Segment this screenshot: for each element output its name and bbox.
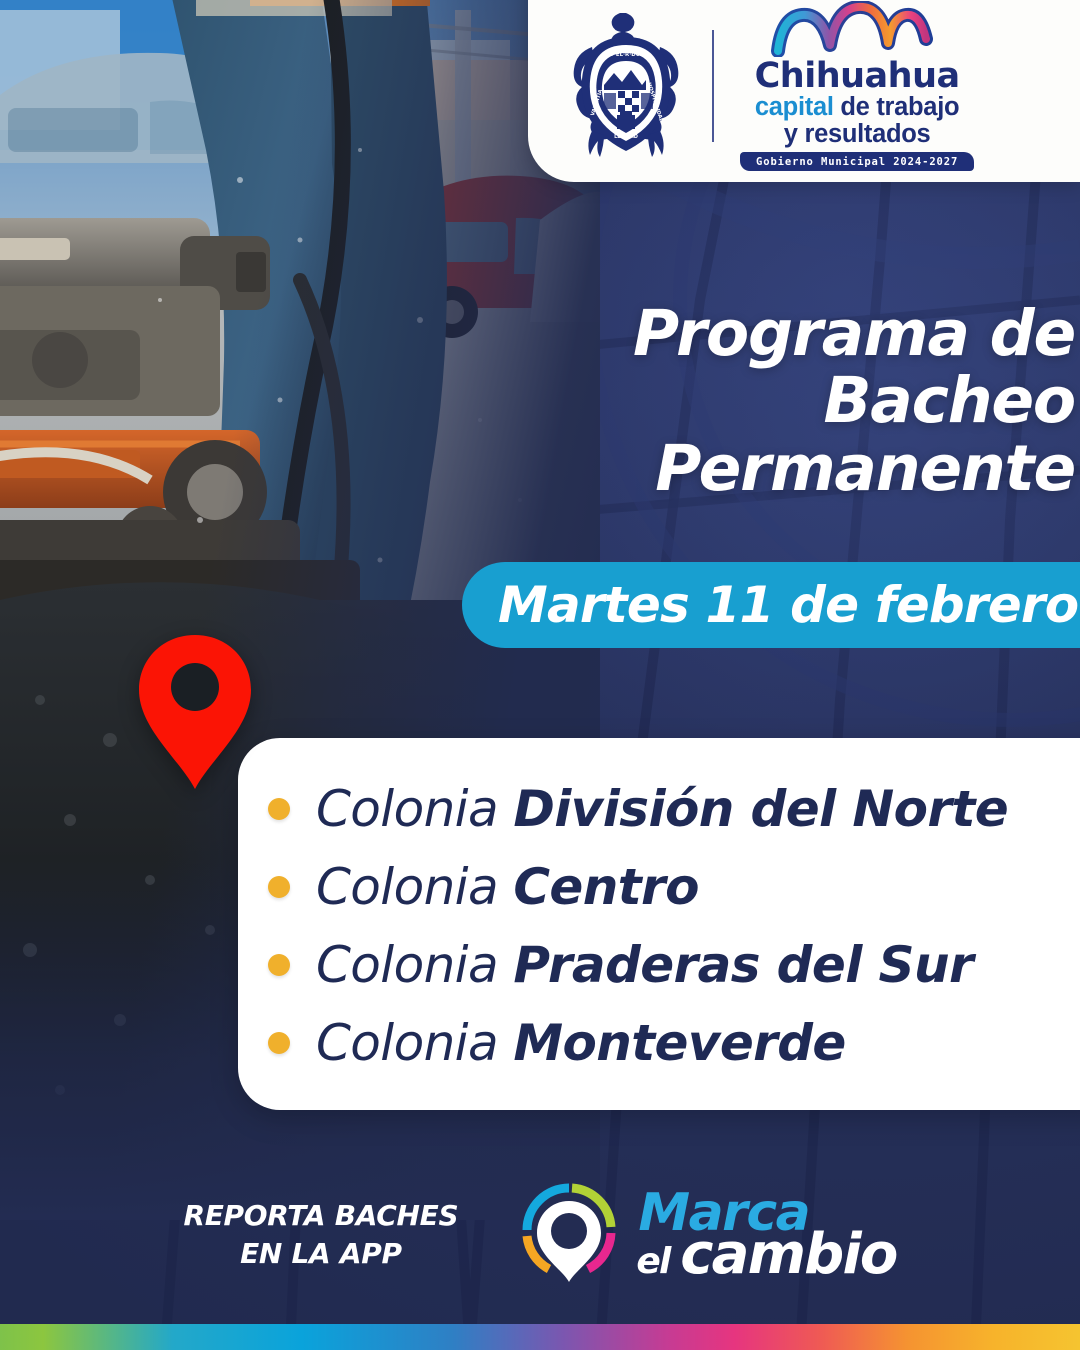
footer: REPORTA BACHES EN LA APP Marca el cambio — [0, 1160, 1080, 1310]
list-item: Colonia Monteverde — [256, 1004, 1080, 1082]
bullet-icon — [268, 876, 290, 898]
colonia-prefix: Colonia — [316, 858, 513, 916]
brand-city-name: Chihuahua — [755, 59, 960, 94]
svg-text:LEALTAD: LEALTAD — [614, 134, 638, 140]
page-title-line2: Bacheo Permanente — [445, 367, 1075, 502]
colonia-prefix: Colonia — [316, 1014, 513, 1072]
colonia-row-2: Colonia Praderas del Sur — [316, 936, 973, 994]
svg-text:S·V·EL·R·DCHI·: S·V·EL·R·DCHI· — [604, 52, 649, 58]
list-item: Colonia Centro — [256, 848, 1080, 926]
government-period-badge: Gobierno Municipal 2024-2027 — [740, 152, 974, 171]
chihuahua-wave-m-icon — [768, 1, 946, 57]
app-cta-line2: EN LA APP — [183, 1235, 458, 1273]
rainbow-accent-bar — [0, 1324, 1080, 1350]
page-title: Programa de Bacheo Permanente — [445, 300, 1075, 502]
marca-el-cambio-pin-icon — [516, 1181, 622, 1289]
colonia-name: Monteverde — [513, 1014, 845, 1072]
bullet-icon — [268, 798, 290, 820]
marca-wordmark: Marca el cambio — [636, 1191, 896, 1280]
marca-el-cambio-logo: Marca el cambio — [516, 1181, 896, 1289]
chihuahua-brand-block: Chihuahua capital de trabajo y resultado… — [740, 1, 974, 171]
header-logo-card: S·V·EL·R·DCHI· VALENTIA HOSPITALIDAD LEA… — [528, 0, 1080, 182]
bullet-icon — [268, 954, 290, 976]
map-pin-icon — [136, 632, 254, 792]
app-cta-line1: REPORTA BACHES — [183, 1197, 458, 1235]
brand-tagline-line2: y resultados — [784, 121, 931, 148]
brand-tagline-rest: de trabajo — [834, 93, 960, 121]
date-banner-text: Martes 11 de febrero — [498, 576, 1078, 634]
colonia-prefix: Colonia — [316, 936, 513, 994]
page-title-line1: Programa de — [445, 300, 1075, 367]
colonia-row-1: Colonia Centro — [316, 858, 699, 916]
colonia-row-3: Colonia Monteverde — [316, 1014, 846, 1072]
list-item: Colonia Praderas del Sur — [256, 926, 1080, 1004]
app-cta-text: REPORTA BACHES EN LA APP — [183, 1197, 458, 1273]
chihuahua-coat-of-arms-icon: S·V·EL·R·DCHI· VALENTIA HOSPITALIDAD LEA… — [562, 11, 690, 161]
list-item: Colonia División del Norte — [256, 770, 1080, 848]
colonia-name: División del Norte — [513, 780, 1008, 838]
colonias-list-card: Colonia División del Norte Colonia Centr… — [238, 738, 1080, 1110]
marca-word-2: el cambio — [636, 1231, 896, 1279]
marca-word-2-big: cambio — [680, 1222, 896, 1287]
date-banner: Martes 11 de febrero — [462, 562, 1080, 648]
colonia-name: Praderas del Sur — [513, 936, 973, 994]
brand-tagline-line1: capital de trabajo — [755, 94, 959, 121]
colonia-name: Centro — [513, 858, 699, 916]
brand-tagline-strong: capital — [755, 93, 834, 121]
colonia-prefix: Colonia — [316, 780, 513, 838]
logo-divider — [712, 30, 714, 142]
marca-word-2-small: el — [636, 1241, 680, 1282]
colonia-row-0: Colonia División del Norte — [316, 780, 1008, 838]
bullet-icon — [268, 1032, 290, 1054]
poster-root: S·V·EL·R·DCHI· VALENTIA HOSPITALIDAD LEA… — [0, 0, 1080, 1350]
